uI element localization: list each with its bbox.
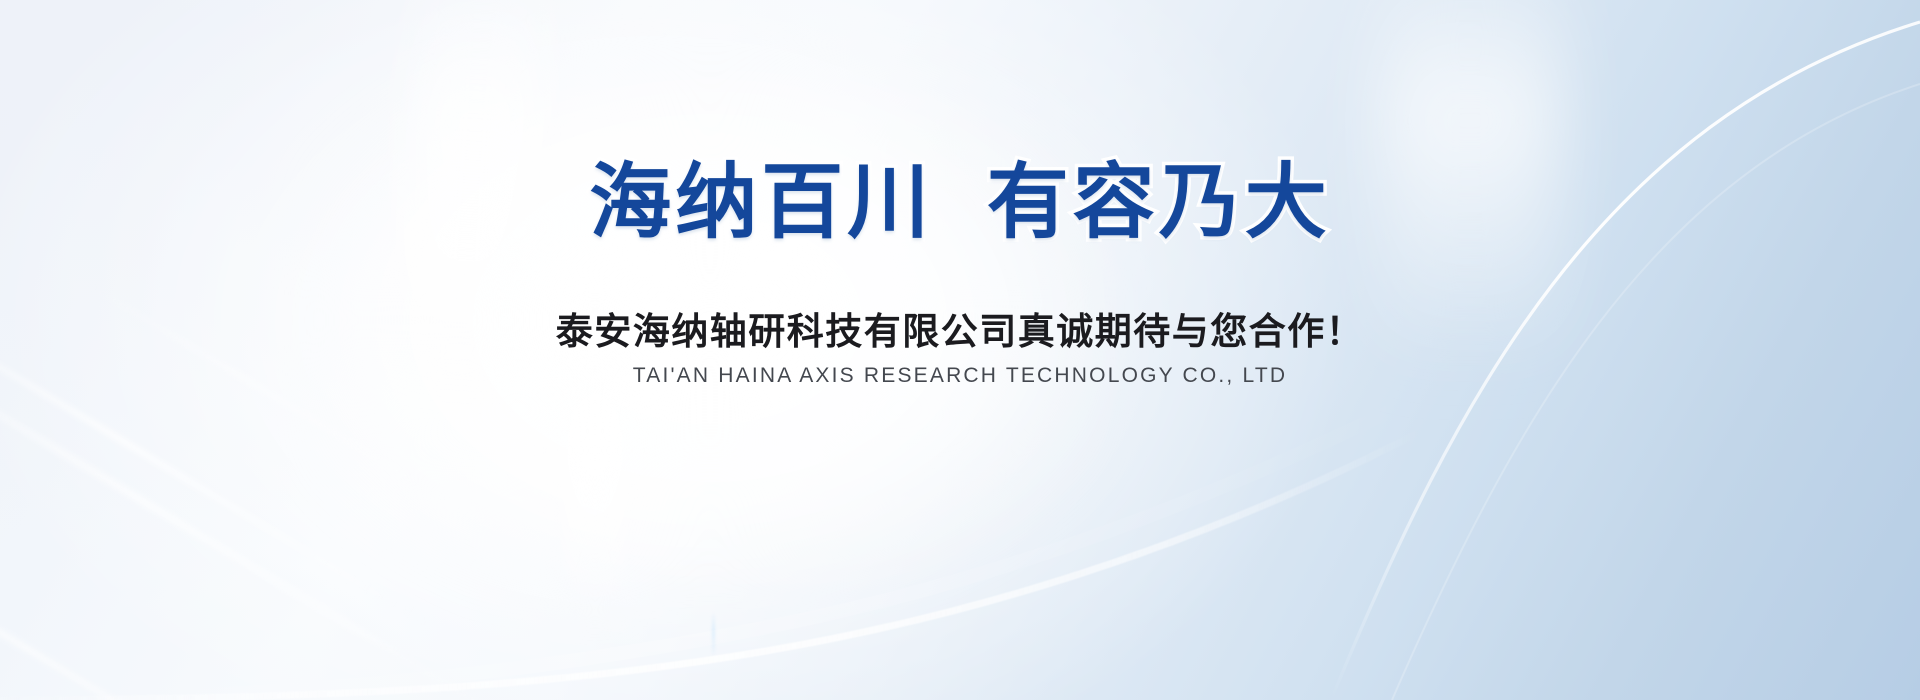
banner-headline: 海纳百川 有容乃大	[0, 158, 1920, 248]
banner-subtitle-english: TAI'AN HAINA AXIS RESEARCH TECHNOLOGY CO…	[0, 362, 1920, 389]
banner-subtitle-chinese: 泰安海纳轴研科技有限公司真诚期待与您合作！	[0, 308, 1920, 356]
hero-banner: 海纳百川 有容乃大 泰安海纳轴研科技有限公司真诚期待与您合作！ TAI'AN H…	[0, 0, 1920, 700]
banner-content: 海纳百川 有容乃大 泰安海纳轴研科技有限公司真诚期待与您合作！ TAI'AN H…	[0, 0, 1920, 700]
